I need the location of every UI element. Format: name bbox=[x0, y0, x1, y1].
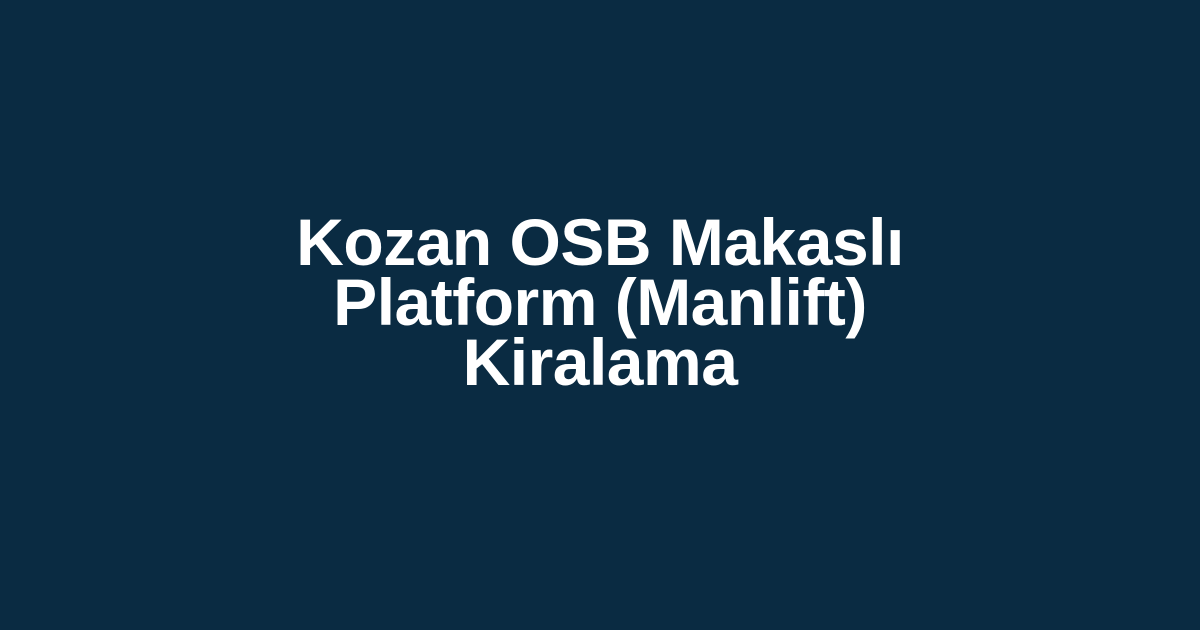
og-share-card: Kozan OSB Makaslı Platform (Manlift) Kir… bbox=[0, 0, 1200, 630]
page-title: Kozan OSB Makaslı Platform (Manlift) Kir… bbox=[220, 212, 980, 392]
title-block: Kozan OSB Makaslı Platform (Manlift) Kir… bbox=[0, 212, 1200, 392]
